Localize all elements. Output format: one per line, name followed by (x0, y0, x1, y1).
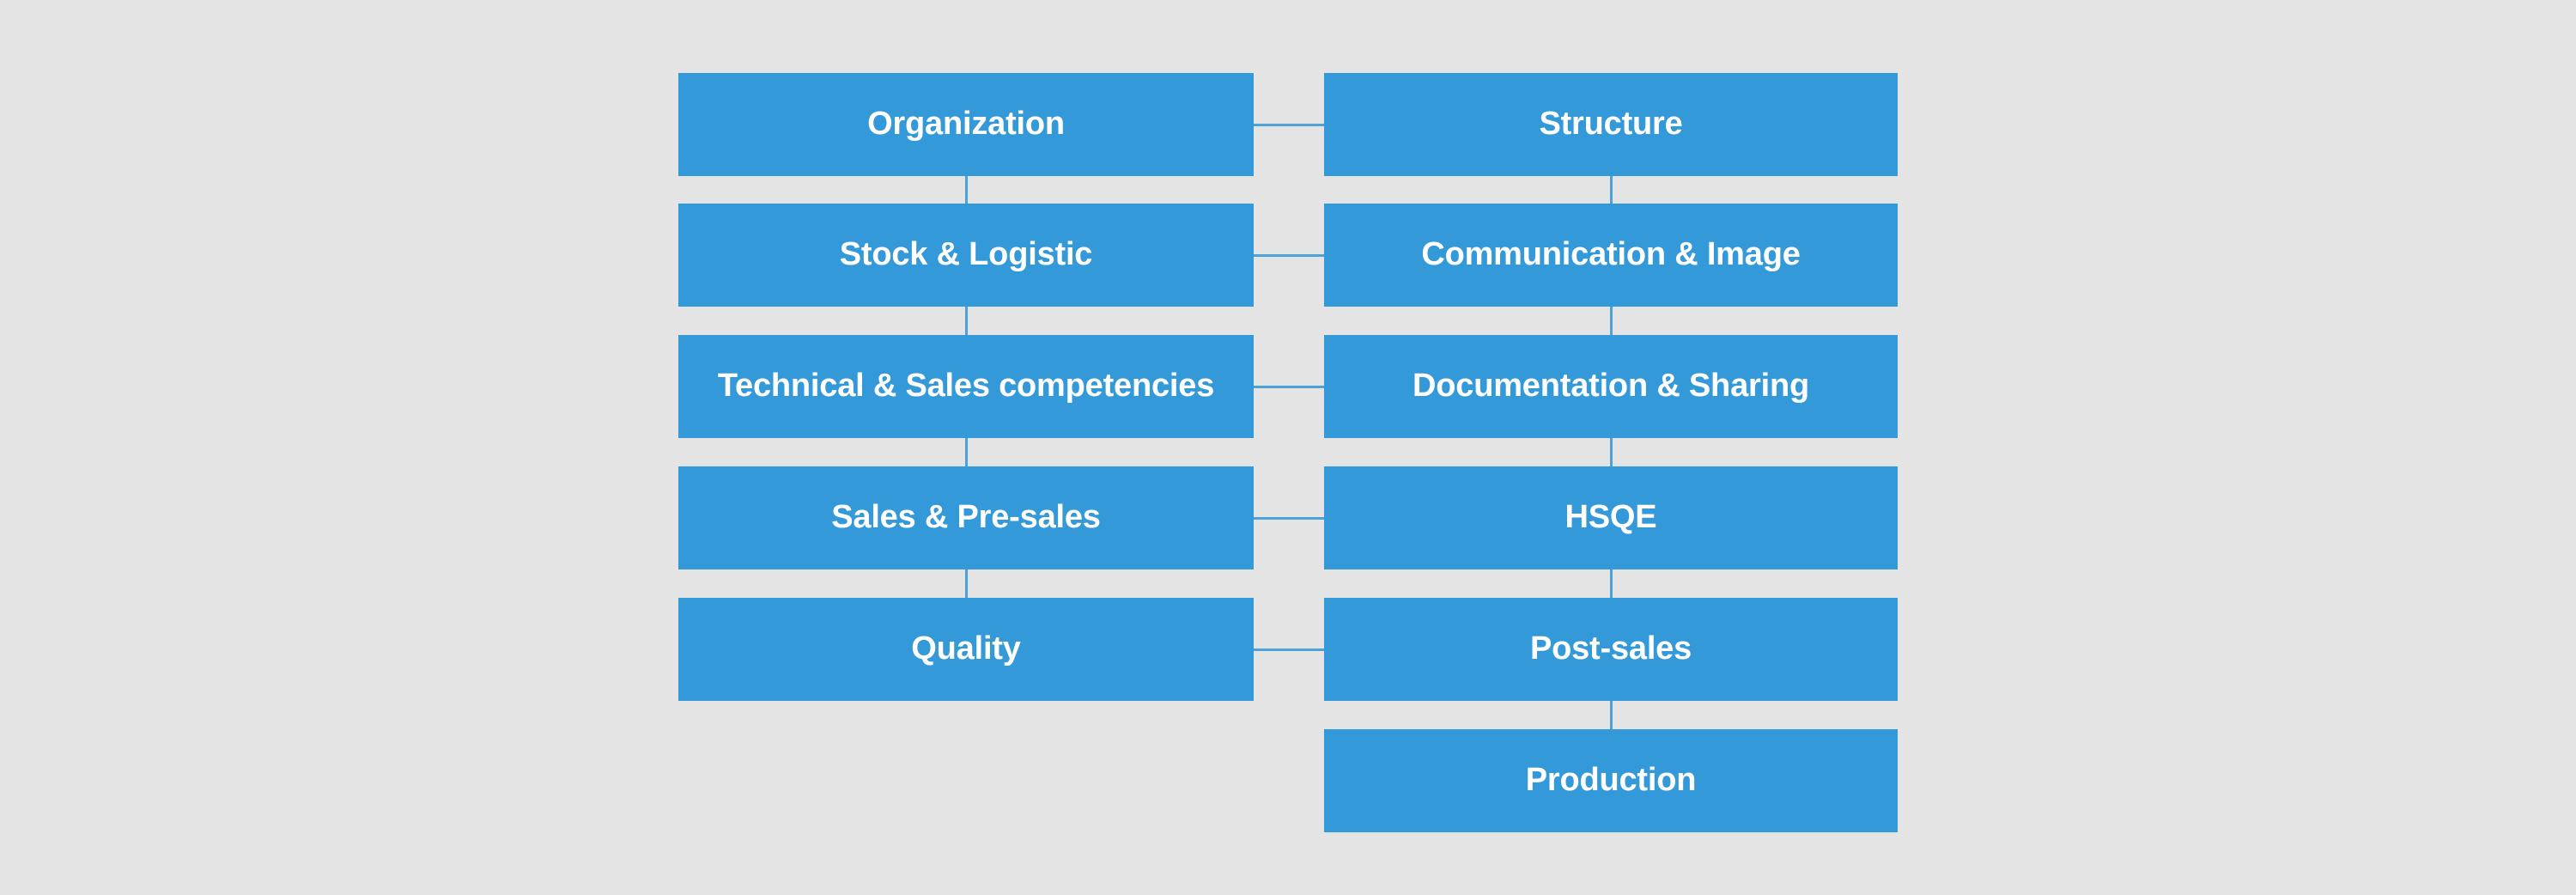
connector-organization-to-structure (1254, 124, 1324, 126)
connector-sales-pre-sales-to-hsqe (1254, 517, 1324, 520)
connector-organization-to-stock-logistic (965, 176, 968, 204)
connector-documentation-sharing-to-hsqe (1610, 438, 1613, 466)
node-label-quality: Quality (899, 631, 1032, 667)
node-label-communication-image: Communication & Image (1409, 237, 1812, 273)
connector-stock-logistic-to-communication-image (1254, 254, 1324, 257)
connector-technical-sales-competencies-to-sales-pre-sales (965, 438, 968, 466)
node-label-sales-pre-sales: Sales & Pre-sales (819, 500, 1112, 536)
node-label-hsqe: HSQE (1553, 500, 1669, 536)
node-label-organization: Organization (855, 107, 1077, 143)
node-technical-sales-competencies[interactable]: Technical & Sales competencies (678, 335, 1254, 438)
node-hsqe[interactable]: HSQE (1324, 466, 1898, 569)
node-label-stock-logistic: Stock & Logistic (828, 237, 1105, 273)
node-documentation-sharing[interactable]: Documentation & Sharing (1324, 335, 1898, 438)
connector-technical-sales-competencies-to-documentation-sharing (1254, 386, 1324, 388)
node-label-documentation-sharing: Documentation & Sharing (1400, 368, 1821, 405)
connector-structure-to-communication-image (1610, 176, 1613, 204)
node-organization[interactable]: Organization (678, 73, 1254, 176)
connector-communication-image-to-documentation-sharing (1610, 307, 1613, 335)
connector-post-sales-to-production (1610, 701, 1613, 729)
node-post-sales[interactable]: Post-sales (1324, 598, 1898, 701)
node-production[interactable]: Production (1324, 729, 1898, 832)
connector-quality-to-post-sales (1254, 648, 1324, 651)
node-communication-image[interactable]: Communication & Image (1324, 204, 1898, 307)
diagram-canvas: OrganizationStock & LogisticTechnical & … (0, 0, 2576, 895)
node-label-structure: Structure (1527, 107, 1694, 143)
node-sales-pre-sales[interactable]: Sales & Pre-sales (678, 466, 1254, 569)
node-label-post-sales: Post-sales (1518, 631, 1704, 667)
node-label-technical-sales-competencies: Technical & Sales competencies (706, 368, 1226, 405)
node-quality[interactable]: Quality (678, 598, 1254, 701)
connector-stock-logistic-to-technical-sales-competencies (965, 307, 968, 335)
connector-hsqe-to-post-sales (1610, 569, 1613, 598)
node-label-production: Production (1514, 763, 1709, 799)
node-stock-logistic[interactable]: Stock & Logistic (678, 204, 1254, 307)
node-structure[interactable]: Structure (1324, 73, 1898, 176)
connector-sales-pre-sales-to-quality (965, 569, 968, 598)
